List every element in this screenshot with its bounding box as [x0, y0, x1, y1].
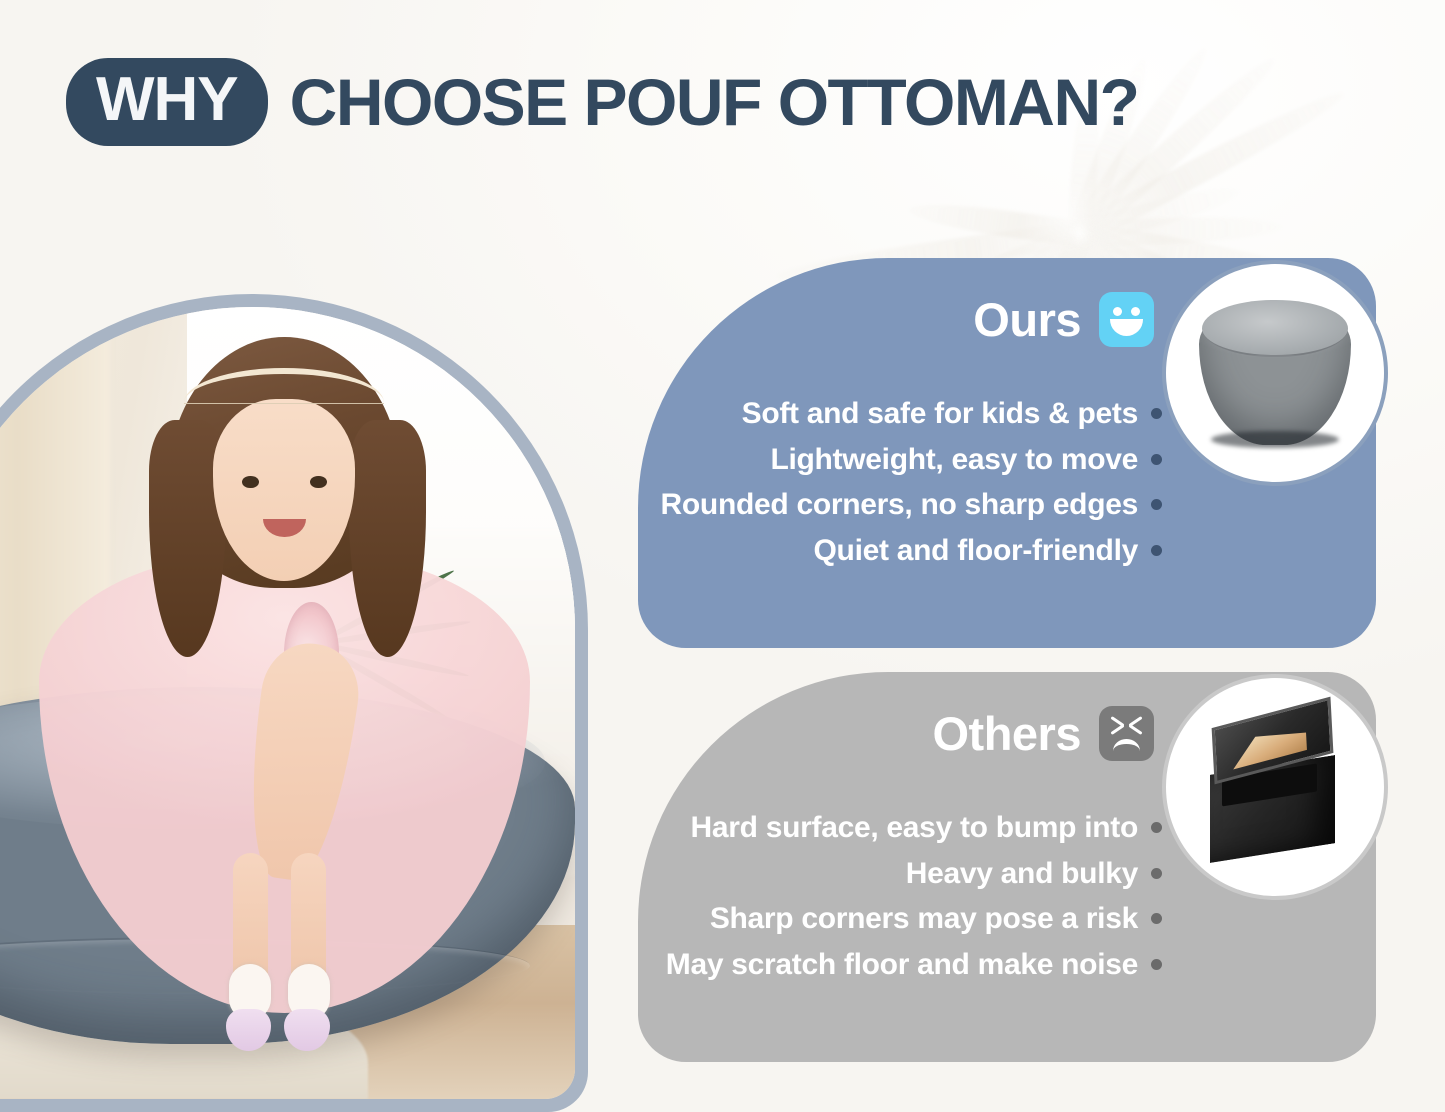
pouf-top: [1202, 300, 1348, 358]
sad-eye-left-stroke-2: [1110, 724, 1124, 735]
ours-bullet-text-1: Soft and safe for kids & pets: [742, 398, 1138, 430]
others-header: Others: [933, 706, 1155, 761]
bullet-dot-icon: [1151, 822, 1162, 833]
ours-title: Ours: [973, 296, 1081, 343]
list-item: Rounded corners, no sharp edges: [661, 489, 1162, 521]
ours-bullet-text-2: Lightweight, easy to move: [770, 444, 1138, 476]
girl-eye-left: [242, 476, 259, 489]
page-title: WHY CHOOSE POUF OTTOMAN?: [66, 58, 1138, 146]
others-bullet-text-3: Sharp corners may pose a risk: [710, 903, 1138, 935]
pouf-base-shadow: [1211, 431, 1339, 448]
bullet-dot-icon: [1151, 868, 1162, 879]
list-item: Soft and safe for kids & pets: [742, 398, 1162, 430]
sad-mouth: [1113, 739, 1140, 751]
others-product-image: [1162, 674, 1388, 900]
others-panel: Others Hard surface, easy to bump into H…: [638, 672, 1376, 1062]
smiley-mouth: [1110, 319, 1143, 336]
ours-bullet-list: Soft and safe for kids & pets Lightweigh…: [661, 398, 1162, 566]
square-box-ottoman-product: [1201, 709, 1354, 866]
bullet-dot-icon: [1151, 959, 1162, 970]
girl-eye-right: [310, 476, 327, 489]
list-item: Lightweight, easy to move: [770, 444, 1162, 476]
others-title: Others: [933, 710, 1082, 757]
others-bullet-text-2: Heavy and bulky: [906, 858, 1138, 890]
why-badge: WHY: [66, 58, 268, 146]
list-item: Quiet and floor-friendly: [814, 535, 1162, 567]
bullet-dot-icon: [1151, 408, 1162, 419]
bullet-dot-icon: [1151, 454, 1162, 465]
list-item: Sharp corners may pose a risk: [710, 903, 1162, 935]
ours-product-image: [1162, 260, 1388, 486]
smiley-face-icon: [1099, 292, 1154, 347]
ours-header: Ours: [973, 292, 1154, 347]
round-pouf-product: [1199, 301, 1352, 445]
ours-bullet-text-3: Rounded corners, no sharp edges: [661, 489, 1138, 521]
list-item: May scratch floor and make noise: [666, 949, 1162, 981]
others-bullet-text-1: Hard surface, easy to bump into: [691, 812, 1138, 844]
hero-photo-frame: [0, 294, 588, 1112]
sad-eye-right-stroke-2: [1128, 724, 1142, 735]
others-bullet-list: Hard surface, easy to bump into Heavy an…: [666, 812, 1162, 980]
list-item: Heavy and bulky: [906, 858, 1162, 890]
sad-face-icon: [1099, 706, 1154, 761]
bullet-dot-icon: [1151, 913, 1162, 924]
others-bullet-text-4: May scratch floor and make noise: [666, 949, 1138, 981]
bullet-dot-icon: [1151, 545, 1162, 556]
title-text: CHOOSE POUF OTTOMAN?: [290, 69, 1139, 135]
list-item: Hard surface, easy to bump into: [691, 812, 1162, 844]
ours-bullet-text-4: Quiet and floor-friendly: [814, 535, 1138, 567]
photo-girl: [123, 323, 446, 1020]
smiley-eye-right: [1131, 307, 1140, 316]
girl-mouth: [263, 519, 306, 537]
smiley-eye-left: [1113, 307, 1122, 316]
ours-panel: Ours Soft and safe for kids & pets Light…: [638, 258, 1376, 648]
bullet-dot-icon: [1151, 499, 1162, 510]
hero-photo: [0, 307, 575, 1099]
